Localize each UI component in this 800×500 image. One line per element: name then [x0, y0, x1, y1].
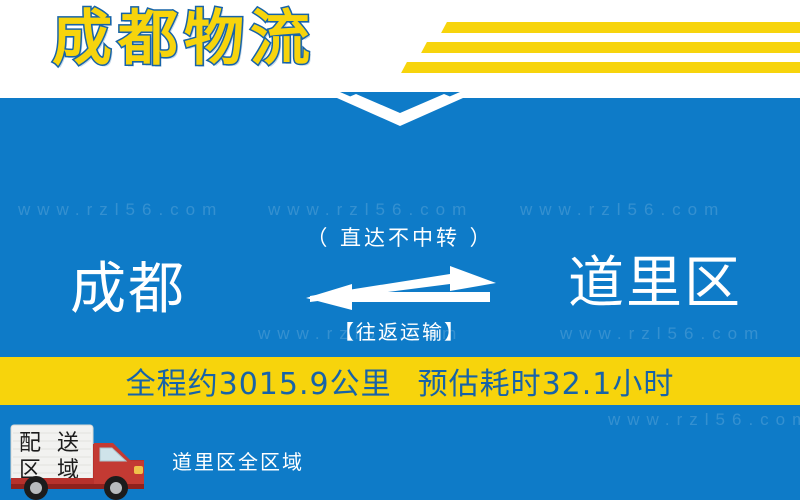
roundtrip-label: 【往返运输】 [255, 316, 545, 345]
double-arrow-icon [300, 266, 500, 310]
watermark: www.rzl56.com [520, 200, 725, 220]
main-blue-panel: www.rzl56.com www.rzl56.com www.rzl56.co… [0, 92, 800, 500]
delivery-truck-icon: 配 送 区 域 [8, 422, 158, 500]
poster-header: 成都物流 [0, 0, 800, 92]
stripe-2 [421, 42, 800, 53]
svg-text:送: 送 [57, 431, 79, 456]
svg-text:配: 配 [19, 431, 41, 456]
stripe-3 [401, 62, 800, 73]
destination-city: 道里区 [568, 252, 742, 316]
stripe-1 [441, 22, 800, 33]
duration-text: 预估耗时32.1小时 [418, 359, 675, 403]
origin-city: 成都 [70, 258, 186, 322]
watermark: www.rzl56.com [268, 200, 473, 220]
route-middle-column: （ 直达不中转 ） 【往返运输】 [255, 222, 545, 345]
watermark: www.rzl56.com [18, 200, 223, 220]
brand-title: 成都物流 [52, 4, 316, 74]
direct-shipping-label: （ 直达不中转 ） [255, 222, 545, 252]
delivery-row: 配 送 区 域 [0, 422, 800, 500]
distance-text: 全程约3015.9公里 [126, 359, 392, 403]
watermark: www.rzl56.com [560, 324, 765, 344]
chevron-down-icon [0, 92, 800, 126]
decorative-stripes [404, 10, 800, 76]
chevron-strip [0, 92, 800, 126]
info-band: 全程约3015.9公里 预估耗时32.1小时 [0, 357, 800, 405]
logistics-poster: 成都物流 www.rzl56.com www.rzl56.com www.rzl… [0, 0, 800, 500]
delivery-area-text: 道里区全区域 [172, 446, 304, 475]
